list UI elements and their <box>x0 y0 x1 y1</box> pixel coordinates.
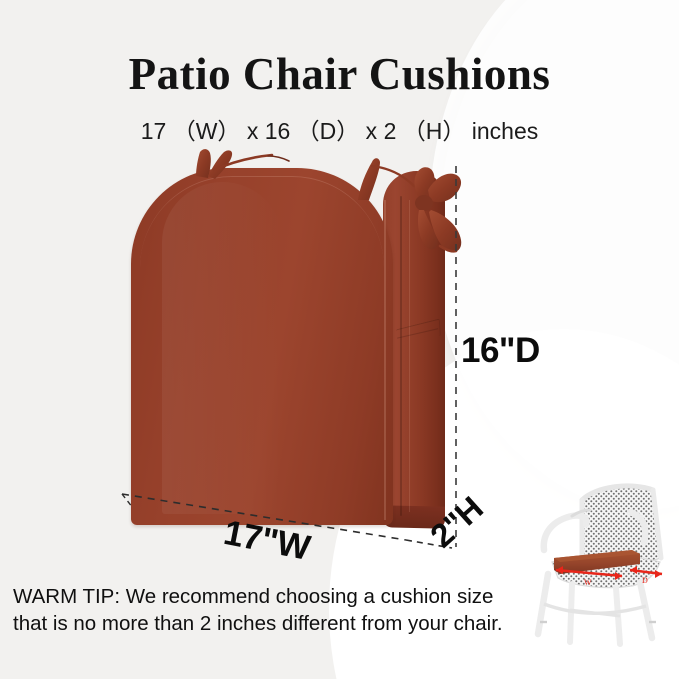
chair-example-inset: W D <box>520 470 679 645</box>
width-guide-tick-left <box>122 494 133 508</box>
inset-width-caption: W <box>584 578 592 587</box>
product-image-canvas: Patio Chair Cushions 17 （W） x 16 （D） x 2… <box>0 0 679 679</box>
warm-tip-text: WARM TIP: We recommend choosing a cushio… <box>13 584 513 637</box>
inset-depth-caption: D <box>642 576 648 585</box>
patio-chair-illustration: W D <box>520 470 679 645</box>
depth-dimension-label: 16"D <box>461 331 540 371</box>
